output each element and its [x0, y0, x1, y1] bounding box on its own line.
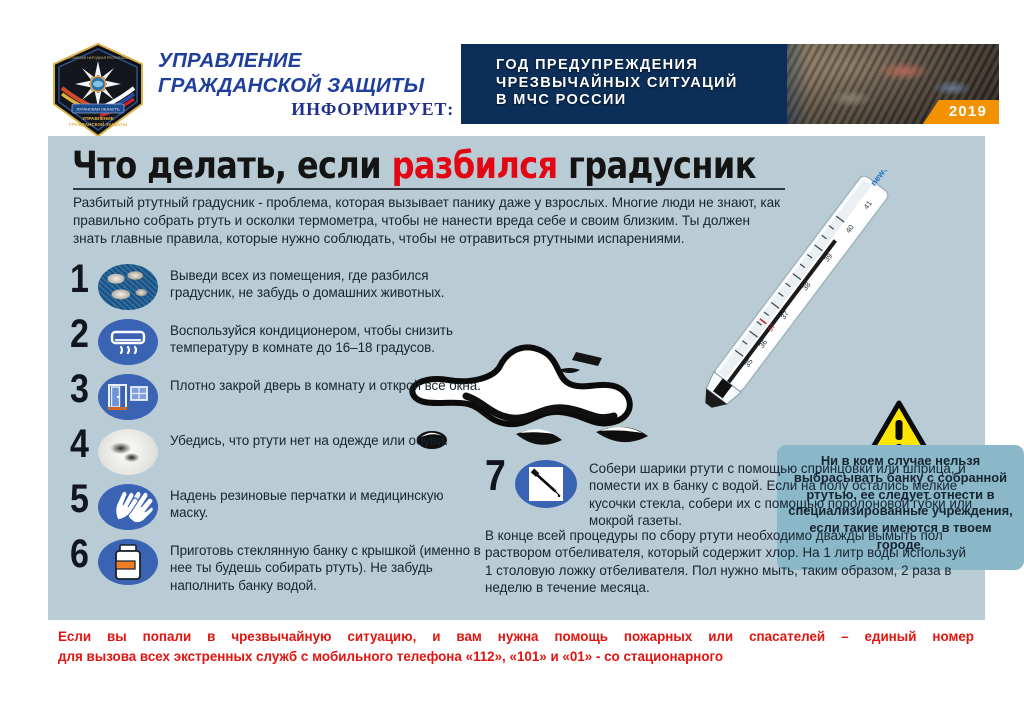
svg-text:ГРАЖДАНСКОЙ ЗАЩИТЫ: ГРАЖДАНСКОЙ ЗАЩИТЫ [69, 120, 128, 127]
svg-text:35: 35 [743, 357, 755, 369]
step-text: Плотно закрой дверь в комнату и открой в… [158, 372, 482, 394]
svg-text:39: 39 [822, 252, 834, 264]
page-header: ЛУГАНСКАЯ НАРОДНАЯ РЕСПУБЛИКА [0, 0, 1024, 140]
closing-paragraph: В конце всей процедуры по сбору ртути не… [485, 527, 977, 597]
step-number: 4 [70, 425, 101, 463]
step-text: Надень резиновые перчатки и медицинскую … [158, 482, 482, 522]
organization-title: УПРАВЛЕНИЕ ГРАЖДАНСКОЙ ЗАЩИТЫ ИНФОРМИРУЕ… [158, 48, 458, 120]
air-conditioner-icon [98, 319, 158, 365]
step-number: 6 [70, 535, 101, 573]
emergency-footer: Если вы попали в чрезвычайную ситуацию, … [58, 627, 974, 667]
clothing-shoes-photo-icon [98, 429, 158, 475]
footer-line-2: для вызова всех экстренных служб с мобил… [58, 647, 974, 667]
step-text: Убедись, что ртути нет на одежде или обу… [158, 427, 482, 449]
banner-line-3: В МЧС РОССИИ [496, 92, 738, 110]
step-item-4: 4 Убедись, что ртути нет на одежде или о… [70, 427, 482, 477]
step-number: 7 [485, 456, 517, 496]
step-number: 1 [70, 260, 101, 298]
page-title: Что делать, если разбился градусник [72, 144, 756, 187]
svg-text:news: news [868, 170, 890, 188]
svg-text:41: 41 [862, 199, 874, 211]
title-highlight: разбился [392, 144, 558, 187]
title-divider [73, 188, 785, 190]
mchs-emblem-icon: ЛУГАНСКАЯ НАРОДНАЯ РЕСПУБЛИКА [46, 42, 150, 138]
step-item-1: 1 Выведи всех из помещения, где разбился… [70, 262, 482, 312]
banner-text-block: ГОД ПРЕДУПРЕЖДЕНИЯ ЧРЕЗВЫЧАЙНЫХ СИТУАЦИЙ… [496, 57, 738, 110]
step-item-2: 2 Воспользуйся кондиционером, чтобы сниз… [70, 317, 482, 367]
svg-text:37: 37 [767, 323, 777, 334]
step-number: 2 [70, 315, 101, 353]
step-number: 5 [70, 480, 101, 518]
banner-line-1: ГОД ПРЕДУПРЕЖДЕНИЯ [496, 57, 738, 75]
svg-text:ЛУГАНСКАЯ ОБЛАСТЬ: ЛУГАНСКАЯ ОБЛАСТЬ [76, 107, 120, 112]
steps-list: 1 Выведи всех из помещения, где разбился… [70, 262, 482, 599]
org-informs-label: ИНФОРМИРУЕТ: [158, 99, 458, 120]
footer-line-1: Если вы попали в чрезвычайную ситуацию, … [58, 627, 974, 647]
org-title-line1: УПРАВЛЕНИЕ [158, 48, 458, 73]
infographic-poster: Что делать, если разбился градусник Разб… [48, 136, 985, 620]
svg-text:36: 36 [757, 338, 769, 350]
step-item-5: 5 Надень резиновые перчатки и медицинску… [70, 482, 482, 532]
year-campaign-banner: ГОД ПРЕДУПРЕЖДЕНИЯ ЧРЕЗВЫЧАЙНЫХ СИТУАЦИЙ… [461, 44, 999, 124]
step-item-3: 3 Плотно закрой дверь в комнату и открой… [70, 372, 482, 422]
step-item-7: 7 Собери шарики ртути с помощью спринцов… [485, 458, 975, 530]
intro-paragraph: Разбитый ртутный градусник - проблема, к… [73, 194, 785, 247]
step-text: Приготовь стеклянную банку с крышкой (им… [158, 537, 482, 594]
svg-text:ЛУГАНСКАЯ НАРОДНАЯ РЕСПУБЛИКА: ЛУГАНСКАЯ НАРОДНАЯ РЕСПУБЛИКА [66, 56, 130, 60]
mercury-beads-photo-icon [98, 264, 158, 310]
svg-text:УПРАВЛЕНИЕ: УПРАВЛЕНИЕ [82, 116, 113, 121]
step-text: Выведи всех из помещения, где разбился г… [158, 262, 482, 302]
glass-jar-icon [98, 539, 158, 585]
syringe-icon [515, 460, 577, 508]
step-item-6: 6 Приготовь стеклянную банку с крышкой (… [70, 537, 482, 594]
svg-text:40: 40 [844, 223, 856, 235]
title-prefix: Что делать, если [72, 144, 392, 187]
rubber-gloves-icon [98, 484, 158, 530]
step-text: Собери шарики ртути с помощью спринцовки… [577, 458, 975, 530]
org-title-line2: ГРАЖДАНСКОЙ ЗАЩИТЫ [158, 73, 458, 98]
svg-text:38: 38 [800, 280, 812, 292]
svg-text:37: 37 [779, 309, 791, 321]
title-suffix: градусник [558, 144, 756, 187]
step-text: Воспользуйся кондиционером, чтобы снизит… [158, 317, 482, 357]
door-window-icon [98, 374, 158, 420]
step-number: 3 [70, 370, 101, 408]
banner-line-2: ЧРЕЗВЫЧАЙНЫХ СИТУАЦИЙ [496, 75, 738, 93]
